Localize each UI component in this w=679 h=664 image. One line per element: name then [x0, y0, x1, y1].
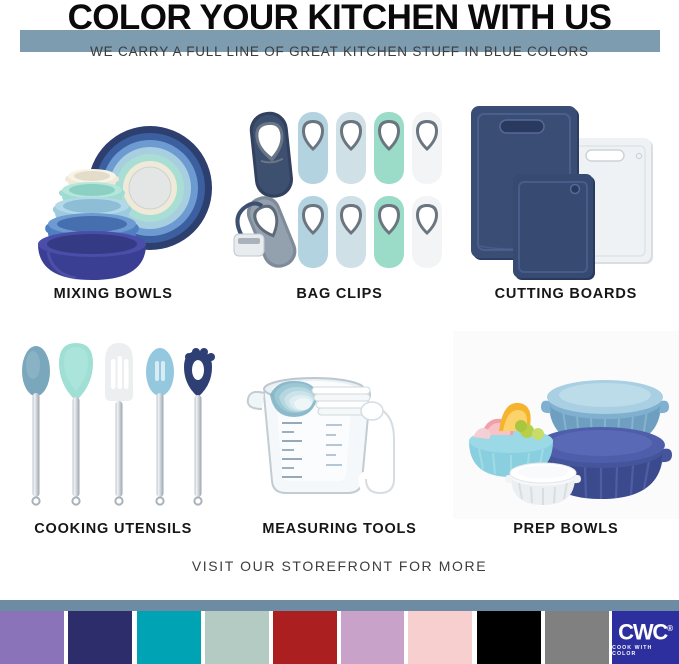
- swatch-sage: [205, 611, 269, 664]
- logo-text: CWC: [618, 619, 667, 644]
- product-card-measuring-tools[interactable]: MEASURING TOOLS: [226, 331, 452, 566]
- swatch-purple: [0, 611, 64, 664]
- product-card-prep-bowls[interactable]: PREP BOWLS: [453, 331, 679, 566]
- registered-trademark-icon: ®: [667, 624, 673, 633]
- bag-clips-image: [226, 96, 452, 284]
- swatch-black: [477, 611, 541, 664]
- product-label-measuring-tools: MEASURING TOOLS: [226, 521, 452, 537]
- prep-bowls-image: [453, 331, 679, 519]
- swatch-red: [273, 611, 337, 664]
- color-swatch-strip: CWC® COOK WITH COLOR: [0, 611, 679, 664]
- brand-logo[interactable]: CWC® COOK WITH COLOR: [612, 611, 679, 664]
- product-card-cutting-boards[interactable]: CUTTING BOARDS: [453, 96, 679, 331]
- product-label-cutting-boards: CUTTING BOARDS: [453, 286, 679, 302]
- logo-tagline: COOK WITH COLOR: [612, 645, 679, 657]
- footer-divider-bar: [0, 600, 679, 611]
- swatch-pink: [408, 611, 472, 664]
- storefront-callout[interactable]: VISIT OUR STOREFRONT FOR MORE: [0, 558, 679, 574]
- measuring-tools-illustration: [226, 331, 452, 519]
- mixing-bowls-image: [0, 96, 226, 284]
- page-title: COLOR YOUR KITCHEN WITH US: [0, 0, 679, 40]
- mixing-bowls-illustration: [0, 96, 226, 284]
- swatch-navy: [68, 611, 132, 664]
- logo-wordmark: CWC®: [618, 618, 673, 643]
- header: COLOR YOUR KITCHEN WITH US WE CARRY A FU…: [0, 0, 679, 70]
- product-card-mixing-bowls[interactable]: MIXING BOWLS: [0, 96, 226, 331]
- product-grid: MIXING BOWLS: [0, 96, 679, 566]
- cooking-utensils-illustration: [0, 331, 226, 519]
- product-card-cooking-utensils[interactable]: COOKING UTENSILS: [0, 331, 226, 566]
- swatch-mauve: [341, 611, 405, 664]
- bag-clips-illustration: [226, 96, 452, 284]
- cutting-boards-illustration: [453, 96, 679, 284]
- product-card-bag-clips[interactable]: BAG CLIPS: [226, 96, 452, 331]
- swatch-gray: [545, 611, 609, 664]
- product-label-cooking-utensils: COOKING UTENSILS: [0, 521, 226, 537]
- cooking-utensils-image: [0, 331, 226, 519]
- promo-banner-page: COLOR YOUR KITCHEN WITH US WE CARRY A FU…: [0, 0, 679, 664]
- cutting-boards-image: [453, 96, 679, 284]
- page-subtitle: WE CARRY A FULL LINE OF GREAT KITCHEN ST…: [0, 44, 679, 59]
- product-label-mixing-bowls: MIXING BOWLS: [0, 286, 226, 302]
- prep-bowls-illustration: [453, 331, 679, 519]
- product-label-bag-clips: BAG CLIPS: [226, 286, 452, 302]
- swatch-teal: [137, 611, 201, 664]
- measuring-tools-image: [226, 331, 452, 519]
- product-label-prep-bowls: PREP BOWLS: [453, 521, 679, 537]
